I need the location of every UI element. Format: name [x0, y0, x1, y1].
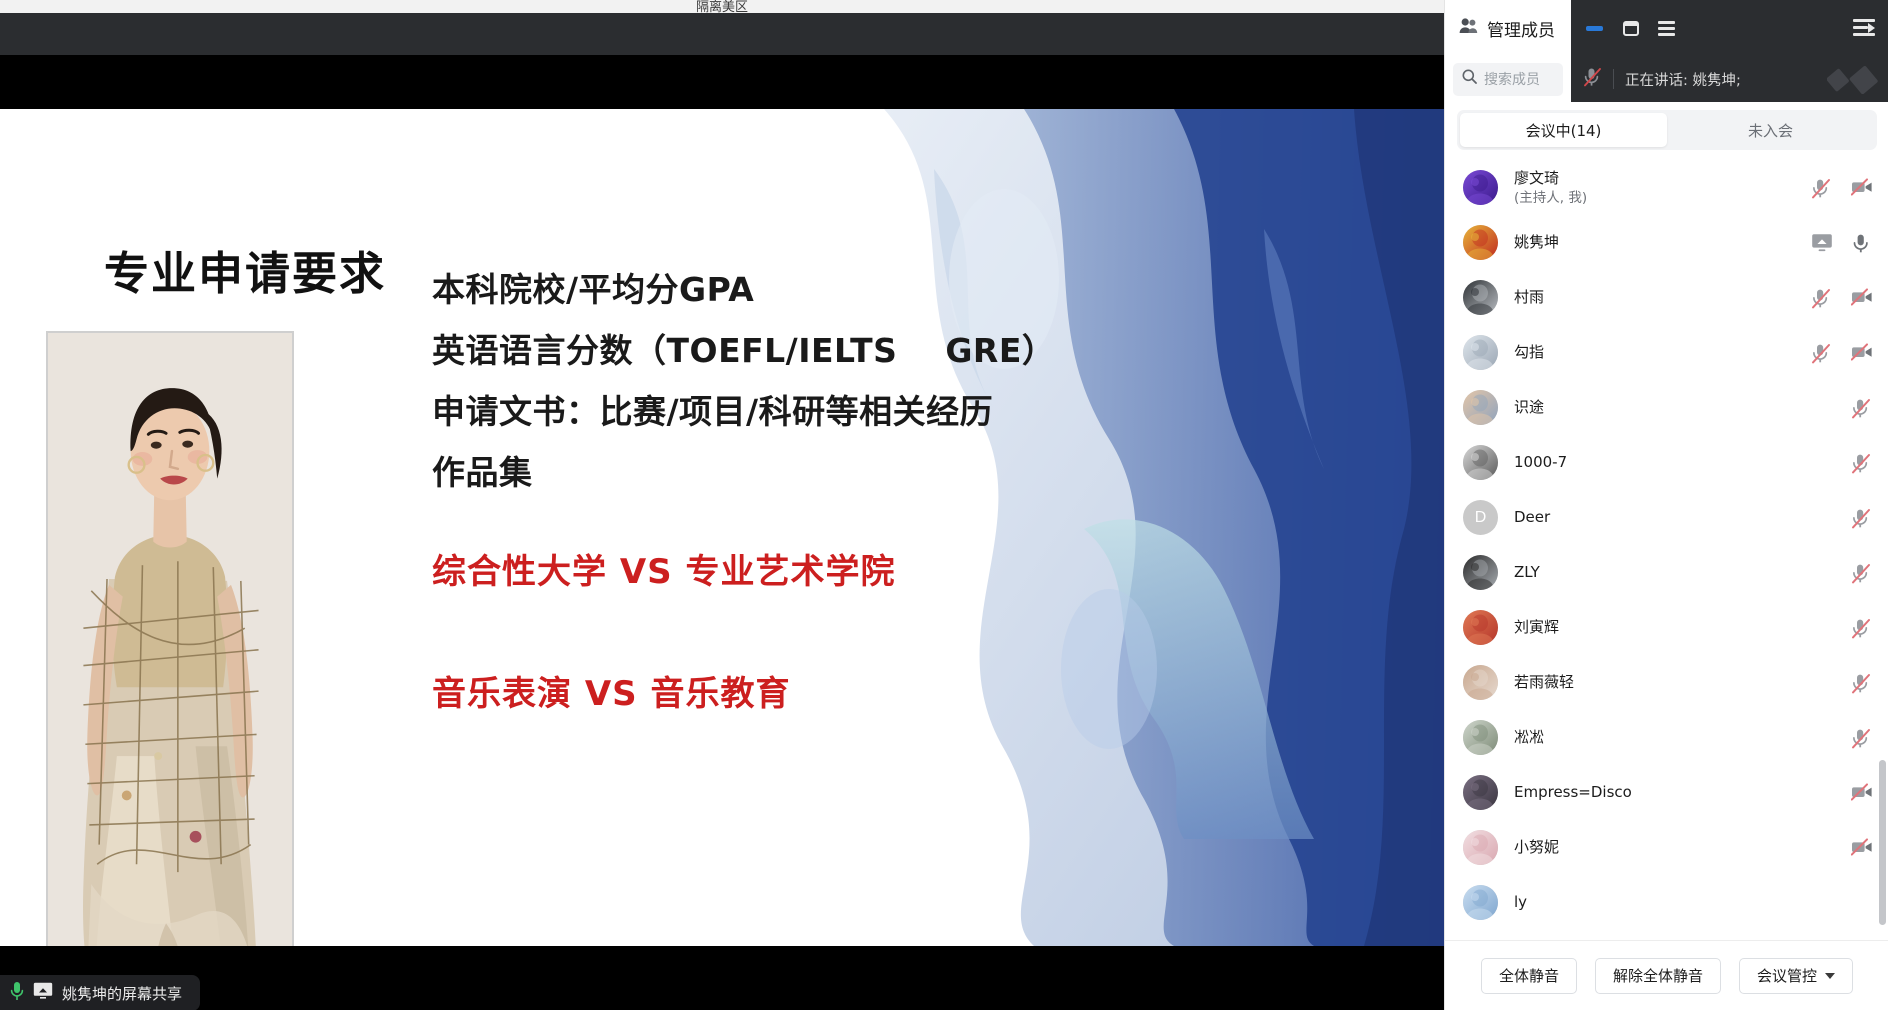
- slide-red-line: 综合性大学 VS 专业艺术学院: [432, 547, 1192, 597]
- microphone-muted-icon: [1583, 67, 1602, 92]
- participant-status-icons: [1851, 618, 1871, 638]
- screen-share-label: 姚隽坤的屏幕共享: [62, 983, 182, 1004]
- panel-footer: 全体静音 解除全体静音 会议管控: [1445, 940, 1888, 1010]
- share-letterbox-bottom: [0, 946, 1444, 1010]
- participants-panel: 管理成员 搜索成员: [1444, 0, 1888, 1010]
- decorative-shape: [1827, 66, 1881, 94]
- slide-body-line: 作品集: [432, 442, 1192, 503]
- cut-window-title: 隔离美区: [696, 0, 748, 13]
- participant-row[interactable]: 廖文琦(主持人, 我): [1445, 160, 1888, 215]
- panel-tabs: 会议中(14) 未入会: [1457, 110, 1877, 150]
- microphone-muted-icon[interactable]: [1851, 453, 1871, 473]
- microphone-muted-icon[interactable]: [1811, 343, 1831, 363]
- camera-muted-icon[interactable]: [1851, 288, 1871, 308]
- window-top-strip: 隔离美区: [0, 0, 1444, 13]
- slide-red-block: 综合性大学 VS 专业艺术学院 音乐表演 VS 音乐教育: [432, 547, 1192, 719]
- participant-status-icons: [1851, 453, 1871, 473]
- list-view-icon[interactable]: [1657, 19, 1676, 38]
- participant-name-wrap: 刘寅辉: [1514, 617, 1559, 637]
- microphone-muted-icon[interactable]: [1851, 728, 1871, 748]
- unmute-all-button[interactable]: 解除全体静音: [1595, 958, 1721, 994]
- search-row: 搜索成员: [1445, 56, 1571, 102]
- participant-name: 廖文琦: [1514, 168, 1587, 188]
- slide-body-line: 本科院校/平均分GPA: [432, 259, 1192, 320]
- camera-muted-icon[interactable]: [1851, 343, 1871, 363]
- slide-title: 专业申请要求: [104, 237, 386, 302]
- participant-name: ZLY: [1514, 562, 1540, 582]
- participant-status-icons: [1811, 343, 1871, 363]
- presentation-slide: 专业申请要求: [0, 109, 1444, 946]
- participant-name: ly: [1514, 892, 1527, 912]
- participant-row[interactable]: 姚隽坤: [1445, 215, 1888, 270]
- participant-name: Deer: [1514, 507, 1550, 527]
- slide-body-line: 申请文书：比赛/项目/科研等相关经历: [432, 381, 1192, 442]
- participant-status-icons: [1851, 838, 1871, 858]
- screen-share-icon[interactable]: [1811, 233, 1831, 253]
- active-speaker-bar: 正在讲话: 姚隽坤;: [1571, 56, 1888, 102]
- unmute-all-label: 解除全体静音: [1613, 965, 1703, 986]
- avatar: [1463, 225, 1498, 260]
- microphone-muted-icon[interactable]: [1851, 673, 1871, 693]
- mute-all-label: 全体静音: [1499, 965, 1559, 986]
- participant-row[interactable]: 1000-7: [1445, 435, 1888, 490]
- participant-name: 1000-7: [1514, 452, 1567, 472]
- participant-name-wrap: 小努妮: [1514, 837, 1559, 857]
- participant-status-icons: [1851, 673, 1871, 693]
- spacer: [432, 597, 1192, 669]
- participant-name-wrap: 1000-7: [1514, 452, 1567, 472]
- participant-name-wrap: 凇凇: [1514, 727, 1544, 747]
- avatar: [1463, 775, 1498, 810]
- microphone-muted-icon[interactable]: [1851, 563, 1871, 583]
- camera-muted-icon[interactable]: [1851, 783, 1871, 803]
- microphone-icon[interactable]: [1851, 233, 1871, 253]
- participant-name: 识途: [1514, 397, 1544, 417]
- participant-row[interactable]: Empress=Disco: [1445, 765, 1888, 820]
- meeting-controls-button[interactable]: 会议管控: [1739, 958, 1853, 994]
- participant-status-icons: [1851, 398, 1871, 418]
- avatar: [1463, 280, 1498, 315]
- participant-row[interactable]: 若雨薇轻: [1445, 655, 1888, 710]
- participant-name-wrap: 村雨: [1514, 287, 1544, 307]
- mute-all-button[interactable]: 全体静音: [1481, 958, 1577, 994]
- participant-row[interactable]: 小努妮: [1445, 820, 1888, 875]
- search-icon: [1462, 69, 1477, 89]
- participant-name: 勾指: [1514, 342, 1544, 362]
- avatar: [1463, 830, 1498, 865]
- avatar: [1463, 390, 1498, 425]
- divider: [1613, 69, 1614, 89]
- participant-name: 小努妮: [1514, 837, 1559, 857]
- minimize-icon[interactable]: [1585, 19, 1604, 38]
- avatar: [1463, 610, 1498, 645]
- panel-header: 管理成员: [1445, 0, 1571, 56]
- participant-row[interactable]: 勾指: [1445, 325, 1888, 380]
- participant-name-wrap: Deer: [1514, 507, 1550, 527]
- avatar: [1463, 665, 1498, 700]
- microphone-muted-icon[interactable]: [1811, 178, 1831, 198]
- microphone-icon[interactable]: [10, 981, 24, 1006]
- participant-row[interactable]: ly: [1445, 875, 1888, 920]
- participant-status-icons: [1811, 288, 1871, 308]
- participant-name: 村雨: [1514, 287, 1544, 307]
- avatar: [1463, 335, 1498, 370]
- participant-name: 姚隽坤: [1514, 232, 1559, 252]
- screen-share-icon[interactable]: [33, 982, 53, 1004]
- participant-row[interactable]: 刘寅辉: [1445, 600, 1888, 655]
- participant-status-icons: [1811, 178, 1871, 198]
- participant-name-wrap: 姚隽坤: [1514, 232, 1559, 252]
- participant-name: Empress=Disco: [1514, 782, 1632, 802]
- participant-list[interactable]: 廖文琦(主持人, 我)姚隽坤村雨勾指识途1000-7DDeerZLY刘寅辉若雨薇…: [1445, 160, 1888, 920]
- participant-name-wrap: 廖文琦(主持人, 我): [1514, 168, 1587, 206]
- active-speaker-label: 正在讲话: 姚隽坤;: [1625, 69, 1741, 90]
- microphone-muted-icon[interactable]: [1811, 288, 1831, 308]
- share-letterbox-top: [0, 55, 1444, 109]
- slide-body: 本科院校/平均分GPA 英语语言分数（TOEFL/IELTS GRE） 申请文书…: [432, 259, 1192, 719]
- chevron-down-icon: [1825, 973, 1835, 979]
- participant-name: 凇凇: [1514, 727, 1544, 747]
- search-input[interactable]: 搜索成员: [1453, 63, 1563, 96]
- microphone-muted-icon[interactable]: [1851, 398, 1871, 418]
- collapse-panel-icon[interactable]: [1853, 19, 1875, 37]
- people-icon: [1459, 17, 1478, 39]
- microphone-muted-icon[interactable]: [1851, 508, 1871, 528]
- participant-name-wrap: Empress=Disco: [1514, 782, 1632, 802]
- avatar: [1463, 445, 1498, 480]
- camera-muted-icon[interactable]: [1851, 178, 1871, 198]
- participant-role: (主持人, 我): [1514, 189, 1587, 207]
- participant-row[interactable]: 凇凇: [1445, 710, 1888, 765]
- microphone-muted-icon[interactable]: [1851, 618, 1871, 638]
- participant-row[interactable]: 村雨: [1445, 270, 1888, 325]
- participant-status-icons: [1811, 233, 1871, 253]
- participant-status-icons: [1851, 783, 1871, 803]
- tab-in-meeting[interactable]: 会议中(14): [1460, 113, 1667, 147]
- search-placeholder: 搜索成员: [1484, 69, 1540, 89]
- avatar: D: [1463, 500, 1498, 535]
- participant-name-wrap: ZLY: [1514, 562, 1540, 582]
- slide-red-line: 音乐表演 VS 音乐教育: [432, 669, 1192, 719]
- maximize-icon[interactable]: [1621, 19, 1640, 38]
- avatar: [1463, 720, 1498, 755]
- shared-screen-area: 专业申请要求: [0, 13, 1444, 1010]
- participant-status-icons: [1851, 728, 1871, 748]
- screen-share-indicator[interactable]: 姚隽坤的屏幕共享: [0, 975, 200, 1010]
- participant-name-wrap: 识途: [1514, 397, 1544, 417]
- avatar: [1463, 170, 1498, 205]
- fashion-model-photo: [48, 333, 292, 946]
- participant-row[interactable]: ZLY: [1445, 545, 1888, 600]
- app-root: 隔离美区: [0, 0, 1888, 1010]
- participant-name: 若雨薇轻: [1514, 672, 1574, 692]
- participant-status-icons: [1851, 563, 1871, 583]
- slide-photo: [46, 331, 294, 946]
- camera-muted-icon[interactable]: [1851, 838, 1871, 858]
- window-controls-bar: [1571, 0, 1888, 56]
- participant-row[interactable]: DDeer: [1445, 490, 1888, 545]
- participant-row[interactable]: 识途: [1445, 380, 1888, 435]
- participant-name-wrap: 勾指: [1514, 342, 1544, 362]
- meeting-controls-label: 会议管控: [1757, 965, 1817, 986]
- share-top-bar: [0, 13, 1444, 55]
- participant-list-scrollbar[interactable]: [1879, 760, 1886, 925]
- participant-status-icons: [1851, 508, 1871, 528]
- panel-title: 管理成员: [1487, 16, 1555, 41]
- avatar: [1463, 555, 1498, 590]
- participant-name: 刘寅辉: [1514, 617, 1559, 637]
- slide-body-line: 英语语言分数（TOEFL/IELTS GRE）: [432, 320, 1192, 381]
- avatar: [1463, 885, 1498, 920]
- tab-not-joined[interactable]: 未入会: [1667, 113, 1874, 147]
- window-controls: [1585, 19, 1676, 38]
- participant-name-wrap: 若雨薇轻: [1514, 672, 1574, 692]
- participant-name-wrap: ly: [1514, 892, 1527, 912]
